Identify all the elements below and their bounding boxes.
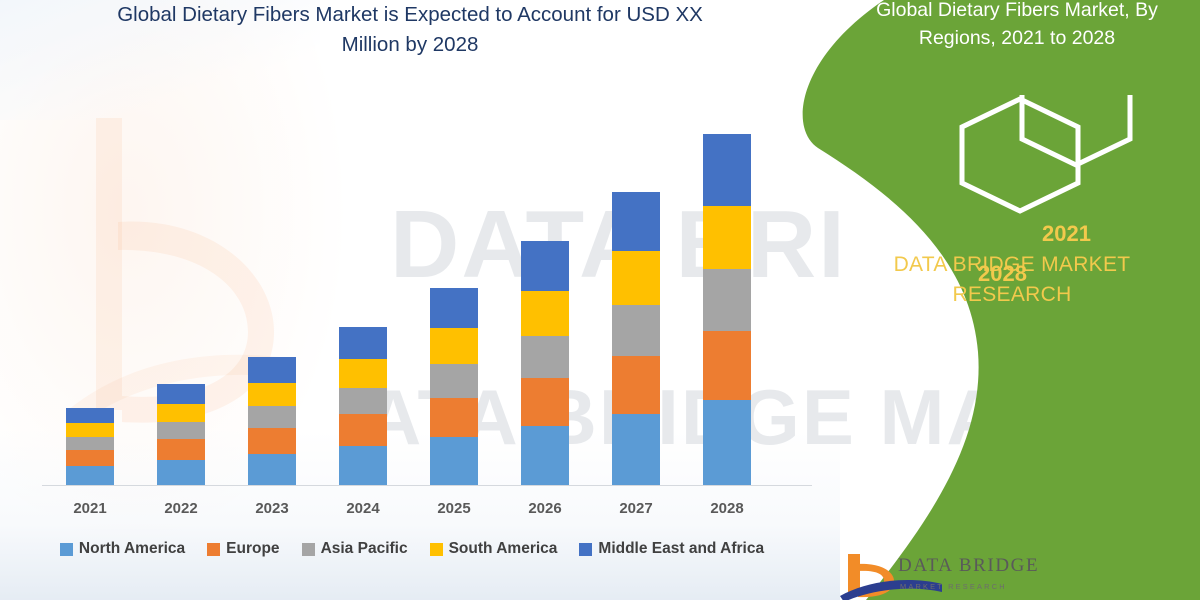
bar-2023[interactable] (248, 357, 296, 485)
green-panel-content: Global Dietary Fibers Market, By Regions… (780, 0, 1200, 600)
legend-label: South America (449, 540, 558, 558)
x-axis-tick-2026: 2026 (505, 500, 585, 517)
legend-swatch-icon (302, 543, 315, 556)
x-axis-tick-2028: 2028 (687, 500, 767, 517)
bar-segment[interactable] (66, 437, 114, 450)
legend-item[interactable]: Asia Pacific (302, 540, 408, 558)
bar-segment[interactable] (612, 251, 660, 305)
legend-label: North America (79, 540, 185, 558)
bar-2022[interactable] (157, 384, 205, 485)
hexagon-pair: 2021 2028 (890, 95, 1140, 225)
panel-brand-name: DATA BRIDGE MARKET RESEARCH (842, 250, 1182, 310)
bar-segment[interactable] (157, 460, 205, 485)
bar-segment[interactable] (339, 446, 387, 485)
legend-label: Europe (226, 540, 279, 558)
hexagon-label-2021: 2021 (1042, 221, 1091, 247)
x-axis-tick-2024: 2024 (323, 500, 403, 517)
bar-segment[interactable] (612, 192, 660, 252)
panel-title: Global Dietary Fibers Market, By Regions… (852, 0, 1182, 52)
x-axis-tick-2027: 2027 (596, 500, 676, 517)
chart-plot-area: 20212022202320242025202620272028 (0, 0, 820, 600)
bar-segment[interactable] (703, 331, 751, 401)
legend-swatch-icon (579, 543, 592, 556)
bar-segment[interactable] (430, 364, 478, 398)
bar-segment[interactable] (248, 454, 296, 485)
bar-segment[interactable] (339, 388, 387, 415)
bar-2026[interactable] (521, 241, 569, 485)
x-axis-tick-2023: 2023 (232, 500, 312, 517)
legend-swatch-icon (60, 543, 73, 556)
legend-label: Middle East and Africa (598, 540, 764, 558)
bar-segment[interactable] (612, 305, 660, 356)
infographic-canvas: DATA BRI ATA BRIDGE MARKET R Global Diet… (0, 0, 1200, 600)
bar-segment[interactable] (66, 408, 114, 423)
bar-segment[interactable] (339, 327, 387, 359)
company-logo: DATA BRIDGE MARKET RESEARCH (838, 552, 1098, 600)
bar-segment[interactable] (612, 356, 660, 415)
x-axis-tick-2025: 2025 (414, 500, 494, 517)
bar-segment[interactable] (339, 414, 387, 446)
bar-segment[interactable] (66, 423, 114, 437)
bar-2021[interactable] (66, 408, 114, 485)
bar-segment[interactable] (430, 437, 478, 485)
bar-2024[interactable] (339, 327, 387, 485)
legend-item[interactable]: North America (60, 540, 185, 558)
bar-segment[interactable] (66, 450, 114, 466)
bar-segment[interactable] (703, 206, 751, 270)
bar-2028[interactable] (703, 134, 751, 485)
legend-item[interactable]: Europe (207, 540, 279, 558)
bar-segment[interactable] (612, 414, 660, 485)
bar-segment[interactable] (157, 439, 205, 460)
bar-segment[interactable] (339, 359, 387, 388)
legend-label: Asia Pacific (321, 540, 408, 558)
bar-segment[interactable] (157, 404, 205, 423)
bar-segment[interactable] (521, 426, 569, 485)
bar-segment[interactable] (521, 291, 569, 336)
bar-segment[interactable] (703, 269, 751, 331)
x-axis-tick-2022: 2022 (141, 500, 221, 517)
bar-segment[interactable] (521, 241, 569, 291)
bar-segment[interactable] (248, 383, 296, 407)
chart-legend: North AmericaEuropeAsia PacificSouth Ame… (42, 540, 782, 558)
bar-segment[interactable] (703, 400, 751, 485)
bar-segment[interactable] (248, 428, 296, 454)
bar-segment[interactable] (521, 336, 569, 378)
bar-segment[interactable] (66, 466, 114, 485)
hexagon-outline-icon (890, 95, 1140, 225)
legend-item[interactable]: South America (430, 540, 558, 558)
bar-2027[interactable] (612, 192, 660, 485)
legend-swatch-icon (430, 543, 443, 556)
chart-baseline (42, 485, 812, 486)
bar-segment[interactable] (703, 134, 751, 206)
logo-tagline: MARKET RESEARCH (900, 582, 1007, 591)
bar-segment[interactable] (430, 288, 478, 328)
bar-2025[interactable] (430, 288, 478, 485)
legend-swatch-icon (207, 543, 220, 556)
bar-segment[interactable] (157, 422, 205, 439)
bar-segment[interactable] (521, 378, 569, 427)
legend-item[interactable]: Middle East and Africa (579, 540, 764, 558)
bar-segment[interactable] (248, 357, 296, 383)
bar-segment[interactable] (430, 398, 478, 438)
x-axis-tick-2021: 2021 (50, 500, 130, 517)
logo-name: DATA BRIDGE (898, 555, 1039, 577)
bar-segment[interactable] (430, 328, 478, 364)
bar-segment[interactable] (248, 406, 296, 428)
bar-segment[interactable] (157, 384, 205, 404)
